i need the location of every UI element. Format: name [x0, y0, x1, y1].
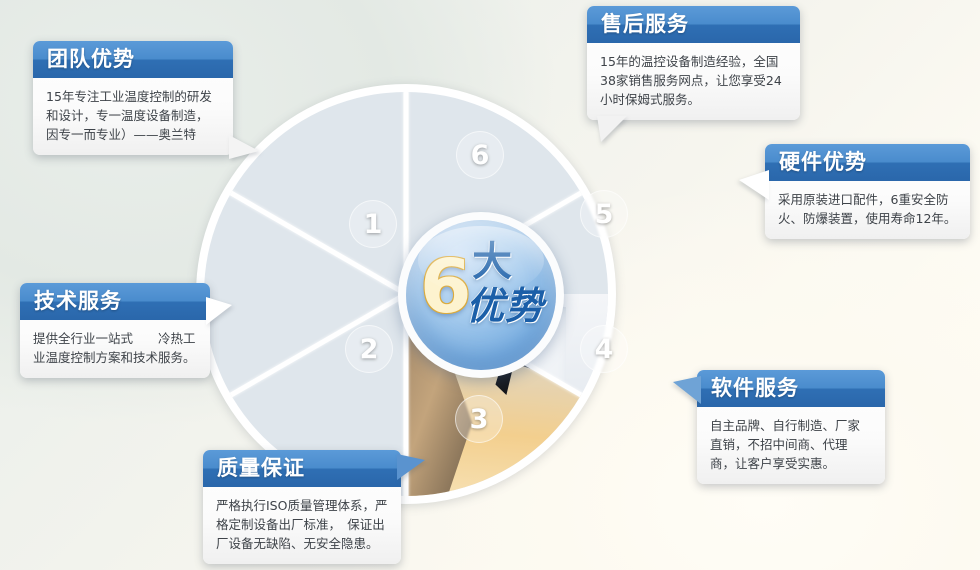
card-software-pointer: [673, 376, 701, 404]
card-hardware-body: 采用原装进口配件，6重安全防火、防爆装置，使用寿命12年。: [765, 181, 970, 239]
card-hardware-title: 硬件优势: [765, 144, 970, 181]
card-team[interactable]: 团队优势 15年专注工业温度控制的研发和设计，专一温度设备制造，因专一而专业）—…: [33, 41, 233, 155]
badge-5[interactable]: 5: [580, 190, 628, 238]
center-emblem: 6 大 优势: [398, 212, 564, 378]
card-quality[interactable]: 质量保证 严格执行ISO质量管理体系，严格定制设备出厂标准， 保证出厂设备无缺陷…: [203, 450, 401, 564]
card-technical-body: 提供全行业一站式 冷热工业温度控制方案和技术服务。: [20, 320, 210, 378]
card-team-body: 15年专注工业温度控制的研发和设计，专一温度设备制造，因专一而专业）——奥兰特: [33, 78, 233, 155]
card-hardware-pointer: [739, 170, 769, 200]
card-software-title: 软件服务: [697, 370, 885, 407]
card-aftersales-title: 售后服务: [587, 6, 800, 43]
card-quality-body: 严格执行ISO质量管理体系，严格定制设备出厂标准， 保证出厂设备无缺陷、无安全隐…: [203, 487, 401, 564]
badge-4[interactable]: 4: [580, 325, 628, 373]
emblem-word: 优势: [466, 286, 544, 326]
card-team-pointer: [229, 135, 259, 159]
card-quality-pointer: [397, 454, 425, 480]
card-technical-title: 技术服务: [20, 283, 210, 320]
card-quality-title: 质量保证: [203, 450, 401, 487]
badge-1[interactable]: 1: [349, 200, 397, 248]
infographic-canvas: 6 大 优势 1 2 3 4 5 6 团队优势 15年专注工业温度控制的研发和设…: [0, 0, 980, 570]
card-aftersales-body: 15年的温控设备制造经验，全国38家销售服务网点，让您享受24小时保姆式服务。: [587, 43, 800, 120]
card-aftersales-pointer: [597, 116, 627, 142]
card-team-title: 团队优势: [33, 41, 233, 78]
card-software-body: 自主品牌、自行制造、厂家直销，不招中间商、代理商，让客户享受实惠。: [697, 407, 885, 484]
badge-6[interactable]: 6: [456, 131, 504, 179]
badge-3[interactable]: 3: [455, 395, 503, 443]
card-hardware[interactable]: 硬件优势 采用原装进口配件，6重安全防火、防爆装置，使用寿命12年。: [765, 144, 970, 239]
badge-2[interactable]: 2: [345, 325, 393, 373]
card-technical-pointer: [206, 297, 232, 325]
emblem-unit: 大: [472, 242, 512, 282]
emblem-number: 6: [420, 250, 472, 324]
card-technical[interactable]: 技术服务 提供全行业一站式 冷热工业温度控制方案和技术服务。: [20, 283, 210, 378]
card-aftersales[interactable]: 售后服务 15年的温控设备制造经验，全国38家销售服务网点，让您享受24小时保姆…: [587, 6, 800, 120]
card-software[interactable]: 软件服务 自主品牌、自行制造、厂家直销，不招中间商、代理商，让客户享受实惠。: [697, 370, 885, 484]
